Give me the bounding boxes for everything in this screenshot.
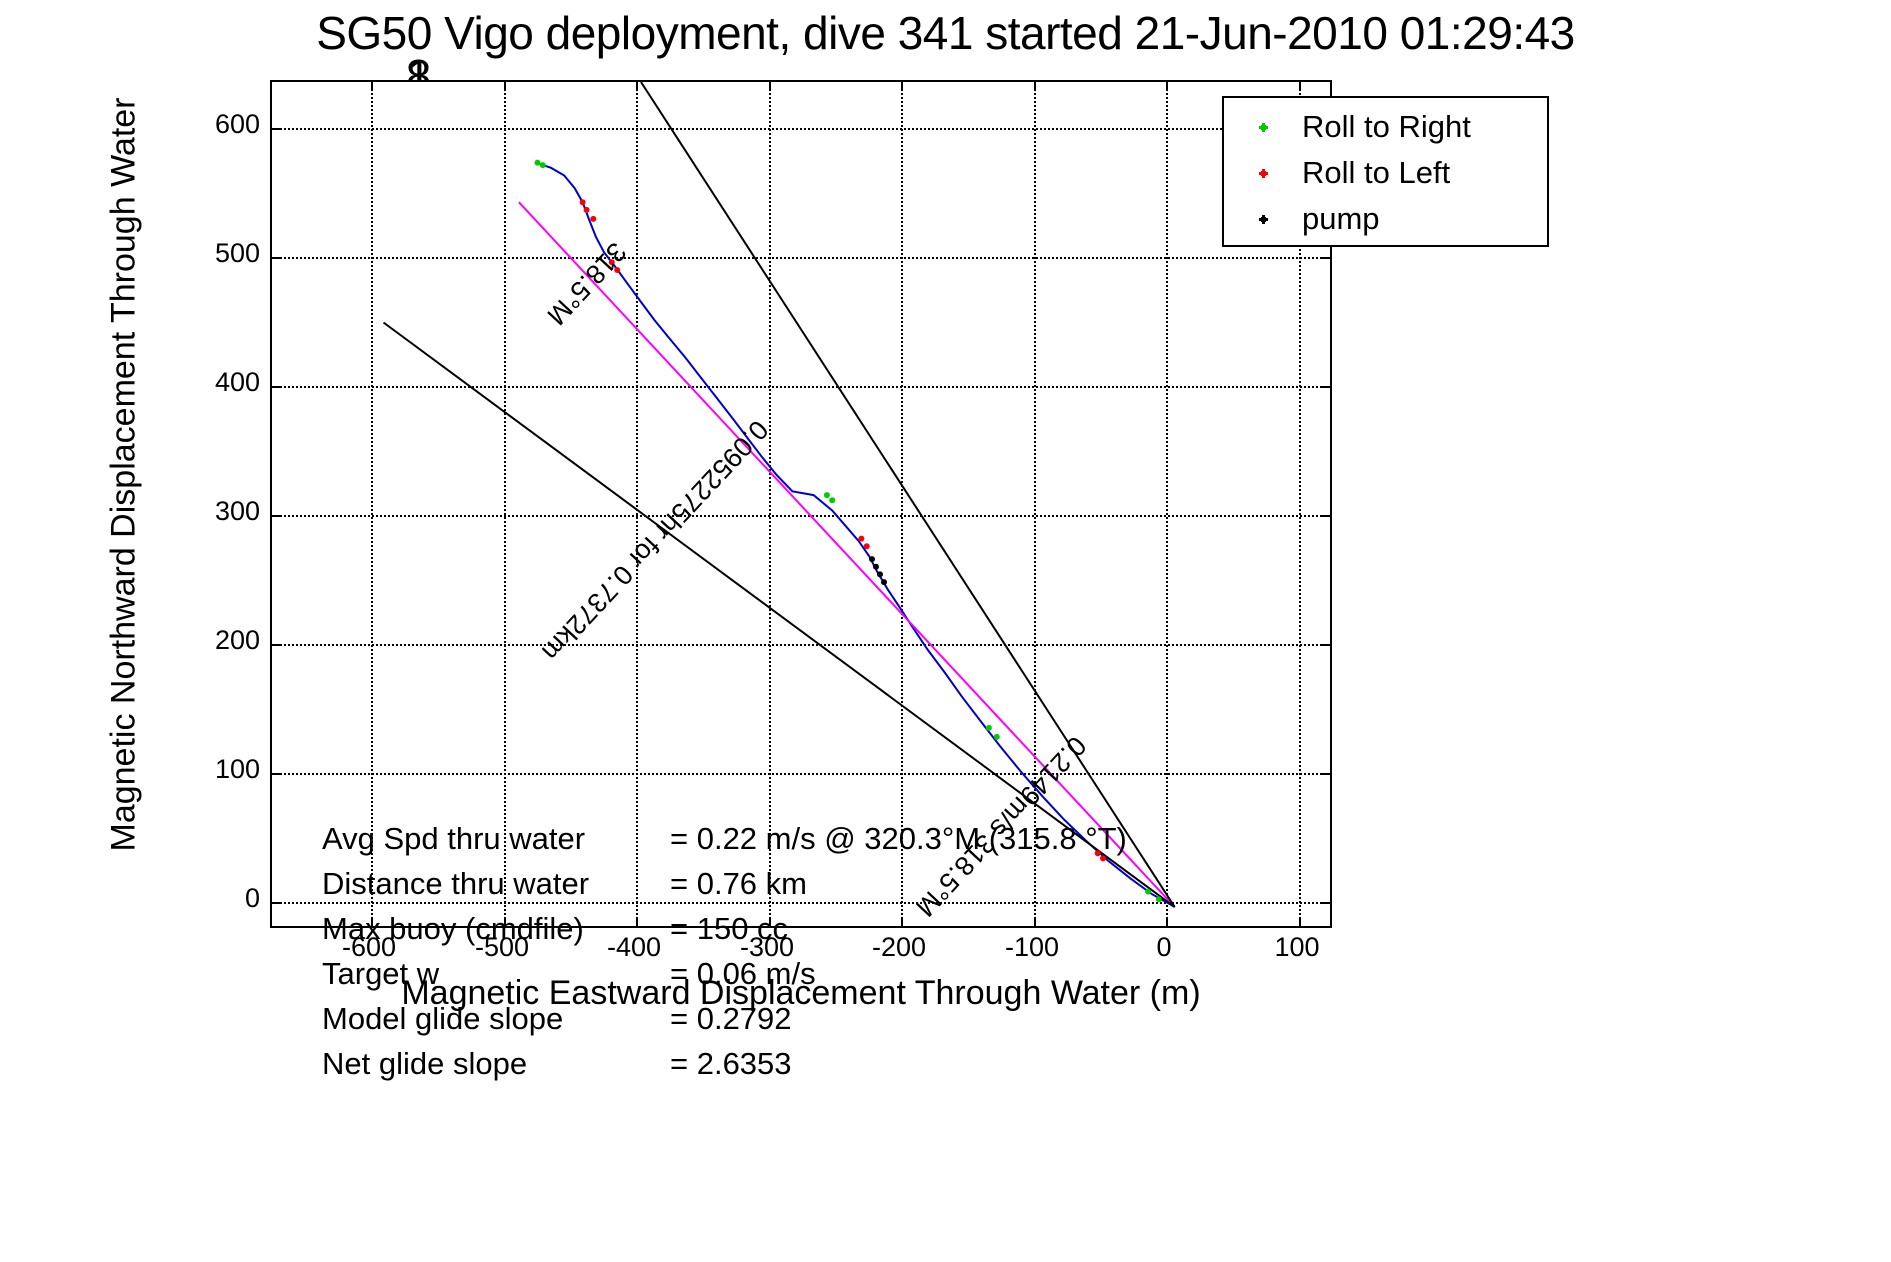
marker-roll-to-right [535, 160, 541, 166]
legend: Roll to Right Roll to Left pump [1222, 96, 1549, 247]
annotation-row-net-glide-slope: Net glide slope = 2.6353 [322, 1041, 1127, 1086]
legend-marker-roll-to-left [1224, 166, 1302, 180]
marker-roll-to-left [590, 216, 596, 222]
annotation-label-max-buoy: Max buoy (cmdfile) [322, 906, 670, 951]
series-dive-track-observed- [535, 163, 1175, 907]
summary-annotation-block: Avg Spd thru water = 0.22 m/s @ 320.3°M … [322, 816, 1127, 1086]
annotation-value-distance-thru-water: = 0.76 km [670, 861, 807, 906]
marker-roll-to-left [858, 536, 864, 542]
marker-pump [881, 579, 887, 585]
chart-title: SG5810 Vigo deployment, dive 341 started… [0, 6, 1891, 60]
marker-roll-to-left [864, 543, 870, 549]
legend-marker-pump [1224, 212, 1302, 226]
annotation-value-avg-spd-thru-water: = 0.22 m/s @ 320.3°M (315.8 °T) [670, 816, 1127, 861]
marker-roll-to-right [1145, 889, 1151, 895]
ytick-label-100: 100 [170, 754, 260, 785]
annotation-label-net-glide-slope: Net glide slope [322, 1041, 670, 1086]
annotation-value-max-buoy: = 150 cc [670, 906, 788, 951]
ytick-label-500: 500 [170, 238, 260, 269]
annotation-row-distance-thru-water: Distance thru water = 0.76 km [322, 861, 1127, 906]
plot-area: 318.5°M 0.0952275hr for 0.7372km 0.2149m… [270, 80, 1332, 928]
annotation-label-distance-thru-water: Distance thru water [322, 861, 670, 906]
marker-roll-to-right [1156, 896, 1162, 902]
annotation-value-net-glide-slope: = 2.6353 [670, 1041, 792, 1086]
chart-title-prefix: SG5 [316, 7, 407, 59]
ytick-label-400: 400 [170, 367, 260, 398]
ytick-label-0: 0 [170, 883, 260, 914]
annotation-value-model-glide-slope: = 0.2792 [670, 996, 792, 1041]
annotation-row-target-w: Target w = 0.06 m/s [322, 951, 1127, 996]
ytick-label-600: 600 [170, 109, 260, 140]
annotation-row-max-buoy: Max buoy (cmdfile) = 150 cc [322, 906, 1127, 951]
series-model-glide-track [519, 202, 1175, 907]
legend-marker-roll-to-right [1224, 120, 1302, 134]
xtick-label-100: 100 [1237, 932, 1357, 963]
marker-pump [869, 556, 875, 562]
legend-label-roll-to-right: Roll to Right [1302, 109, 1471, 145]
series-glide-envelope-upper [641, 82, 1175, 907]
marker-roll-to-right [986, 725, 992, 731]
marker-pump [877, 571, 883, 577]
ytick-label-200: 200 [170, 625, 260, 656]
annotation-label-model-glide-slope: Model glide slope [322, 996, 670, 1041]
annotation-row-avg-spd-thru-water: Avg Spd thru water = 0.22 m/s @ 320.3°M … [322, 816, 1127, 861]
legend-item-roll-to-left[interactable]: Roll to Left [1224, 150, 1547, 196]
legend-label-roll-to-left: Roll to Left [1302, 155, 1450, 191]
chart-title-suffix: 0 Vigo deployment, dive 341 started 21-J… [407, 7, 1575, 59]
annotation-value-target-w: = 0.06 m/s [670, 951, 816, 996]
marker-pump [873, 564, 879, 570]
ytick-label-300: 300 [170, 496, 260, 527]
chart-canvas [272, 82, 1334, 930]
marker-roll-to-left [584, 207, 590, 213]
y-axis-title: Magnetic Northward Displacement Through … [105, 95, 144, 855]
legend-label-pump: pump [1302, 201, 1380, 237]
annotation-row-model-glide-slope: Model glide slope = 0.2792 [322, 996, 1127, 1041]
legend-item-pump[interactable]: pump [1224, 196, 1547, 242]
annotation-label-avg-spd-thru-water: Avg Spd thru water [322, 816, 670, 861]
marker-roll-to-right [824, 492, 830, 498]
marker-roll-to-right [540, 162, 546, 168]
marker-roll-to-right [994, 734, 1000, 740]
annotation-label-target-w: Target w [322, 951, 670, 996]
marker-roll-to-left [580, 199, 586, 205]
marker-roll-to-right [829, 497, 835, 503]
legend-item-roll-to-right[interactable]: Roll to Right [1224, 104, 1547, 150]
